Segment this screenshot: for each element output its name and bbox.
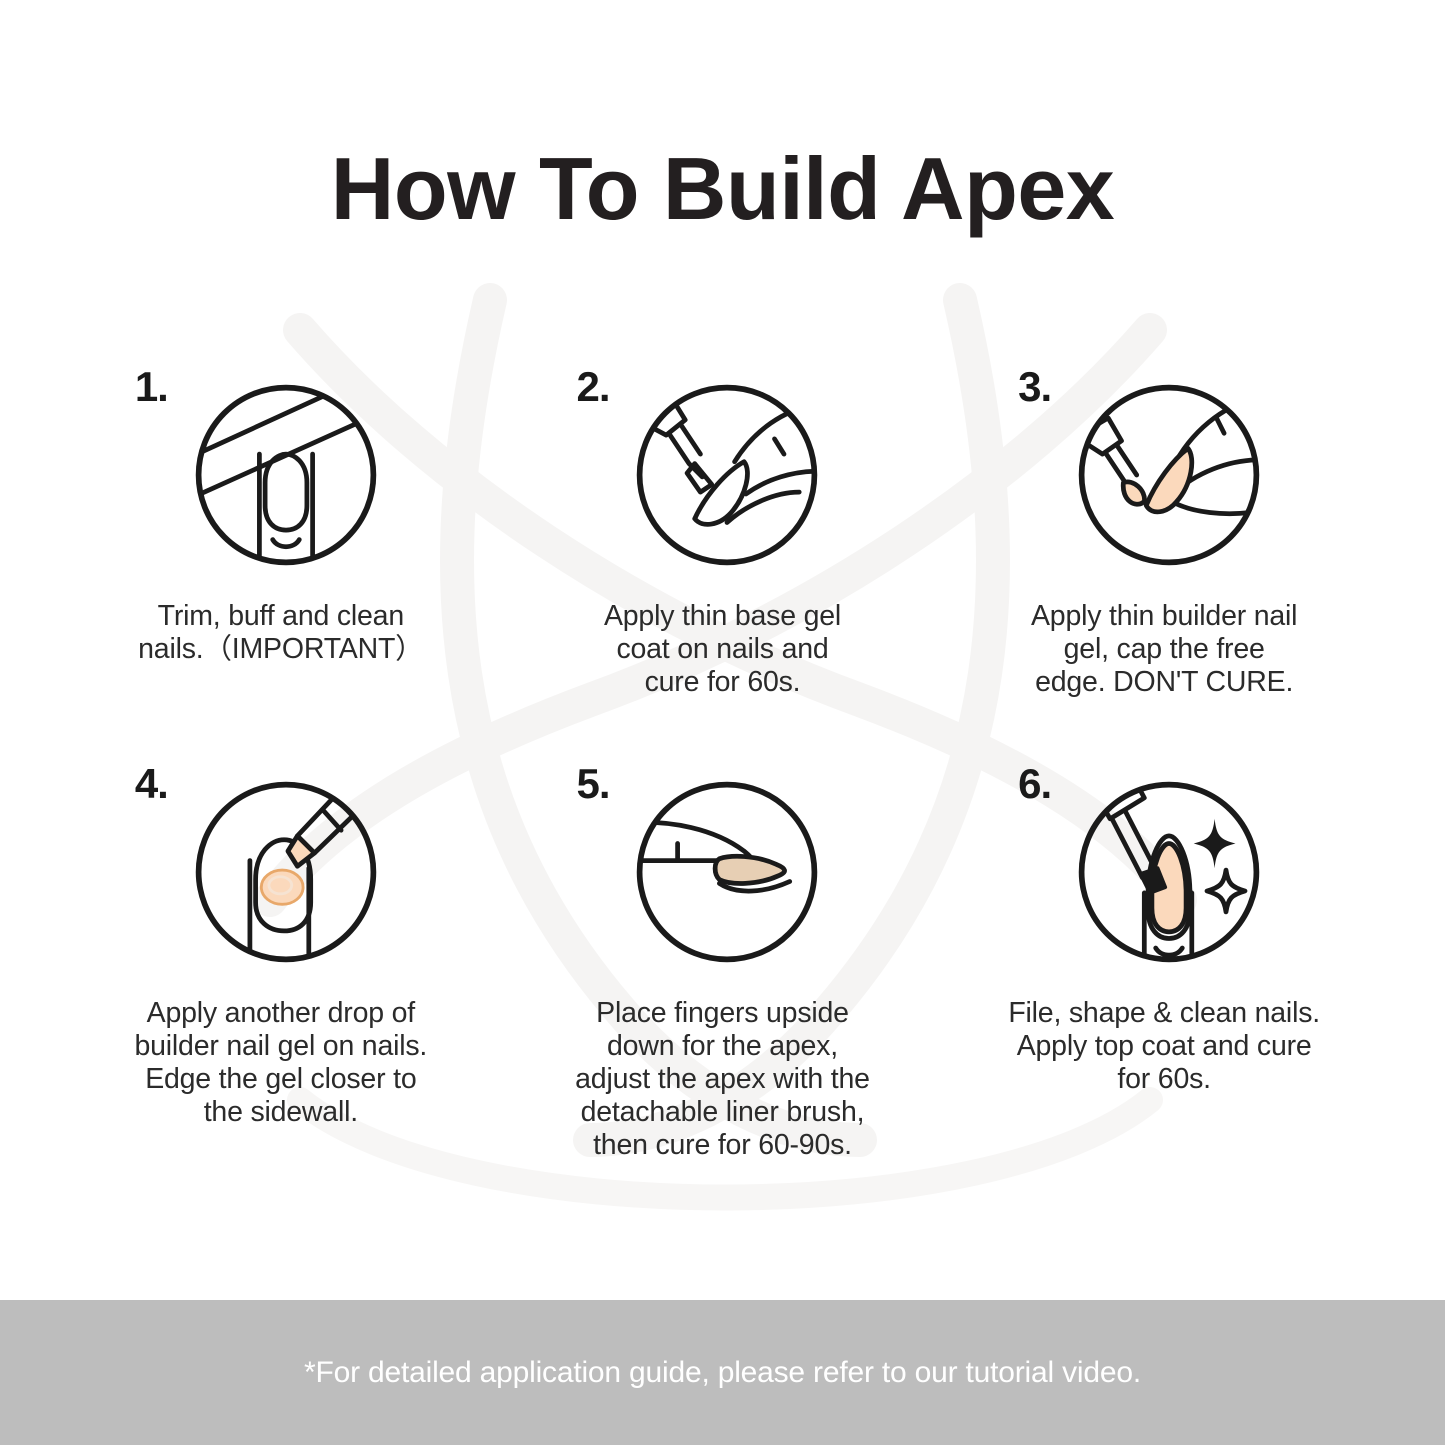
step-visual: 6. xyxy=(1014,757,1314,985)
step-item: 6. xyxy=(943,757,1385,1162)
step-item: 2. xyxy=(502,360,944,699)
infographic-page: How To Build Apex 1. xyxy=(0,0,1445,1445)
step-caption: Apply thin builder nail gel, cap the fre… xyxy=(974,600,1354,699)
file-shape-sparkle-icon xyxy=(1074,777,1264,967)
step-number: 5. xyxy=(576,763,609,805)
nail-file-icon xyxy=(191,380,381,570)
step-visual: 3. xyxy=(1014,360,1314,588)
steps-grid: 1. Trim, b xyxy=(60,360,1385,1162)
brush-builder-gel-icon xyxy=(1074,380,1264,570)
step-visual: 5. xyxy=(572,757,872,985)
step-number: 3. xyxy=(1018,366,1051,408)
step-number: 1. xyxy=(135,366,168,408)
footer-note: *For detailed application guide, please … xyxy=(304,1356,1141,1390)
step-visual: 2. xyxy=(572,360,872,588)
brush-base-coat-icon xyxy=(632,380,822,570)
step-item: 4. xyxy=(60,757,502,1162)
gel-drop-icon xyxy=(191,777,381,967)
step-caption: Apply another drop of builder nail gel o… xyxy=(91,997,471,1129)
step-caption: Place fingers upside down for the apex, … xyxy=(532,997,912,1162)
step-caption: File, shape & clean nails. Apply top coa… xyxy=(974,997,1354,1096)
page-title: How To Build Apex xyxy=(0,138,1445,240)
footer-bar: *For detailed application guide, please … xyxy=(0,1300,1445,1445)
step-number: 4. xyxy=(135,763,168,805)
step-item: 3. xyxy=(943,360,1385,699)
step-visual: 1. xyxy=(131,360,431,588)
step-number: 6. xyxy=(1018,763,1051,805)
step-caption: Trim, buff and clean nails.（IMPORTANT） xyxy=(91,600,471,666)
step-item: 5. xyxy=(502,757,944,1162)
step-item: 1. Trim, b xyxy=(60,360,502,699)
step-visual: 4. xyxy=(131,757,431,985)
step-caption: Apply thin base gel coat on nails and cu… xyxy=(532,600,912,699)
finger-upside-down-icon xyxy=(632,777,822,967)
step-number: 2. xyxy=(576,366,609,408)
